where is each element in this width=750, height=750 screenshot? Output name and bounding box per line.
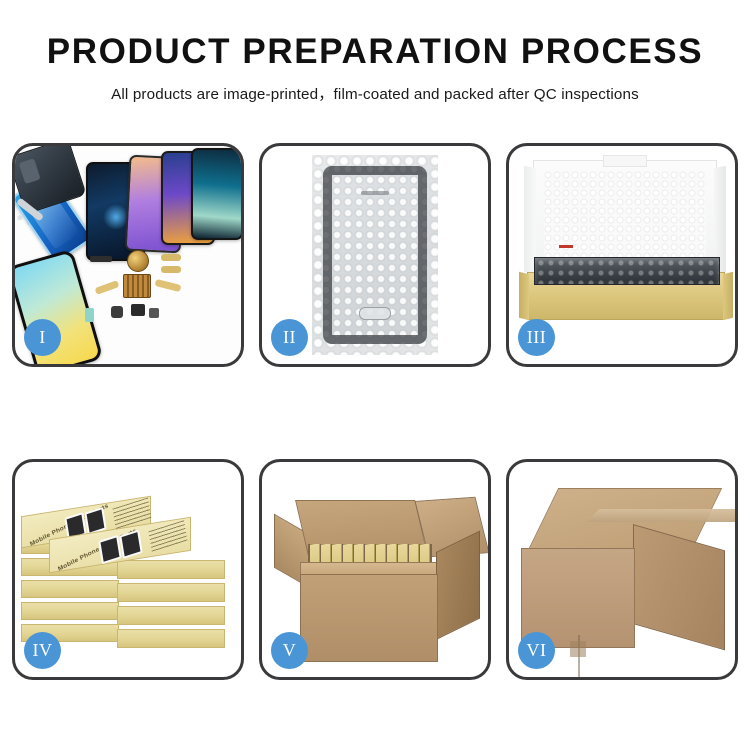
step-panel-6: VI: [506, 459, 738, 680]
wrapped-screen-in-box: [534, 257, 720, 285]
camera-module-part: [131, 304, 145, 316]
step-panel-1: I: [12, 143, 244, 367]
step-panel-2: II: [259, 143, 491, 367]
red-label-strip: [559, 245, 573, 248]
stacked-box: [117, 606, 225, 625]
flex-cable-part-b: [161, 254, 181, 261]
stacked-box: [117, 583, 225, 602]
flex-cable-part-d: [95, 280, 120, 295]
step-panel-3: III: [506, 143, 738, 367]
process-step-grid: I II: [12, 143, 738, 680]
chip-part: [123, 274, 151, 298]
phone-screen-teal: [191, 148, 241, 240]
tray-left-wall: [519, 272, 529, 320]
button-part: [149, 308, 159, 318]
tray-right-wall: [723, 272, 733, 320]
home-button-slot: [359, 307, 391, 320]
step-badge-2: II: [271, 319, 308, 356]
flex-cable-part-e: [155, 279, 182, 292]
step-badge-6: VI: [518, 632, 555, 669]
stacked-box: [21, 580, 119, 598]
page-title: PRODUCT PREPARATION PROCESS: [0, 34, 750, 71]
step-badge-4: IV: [24, 632, 61, 669]
flex-cable-part-c: [161, 266, 181, 273]
flex-cable-part-a: [90, 256, 112, 262]
bubble-wrap-sheet: [312, 155, 438, 355]
lid-tab: [603, 155, 647, 167]
carton-tab-upper: [570, 641, 586, 657]
speaker-coil-part: [127, 250, 149, 272]
carton-front-panel: [300, 574, 438, 662]
stacked-box: [117, 560, 225, 579]
battery-part: [85, 308, 94, 322]
wrapped-screen-frame: [323, 166, 427, 344]
step-badge-5: V: [271, 632, 308, 669]
step-panel-4: Mobile Phone Spare Parts Mobile Phone Sp…: [12, 459, 244, 680]
sealed-carton-side: [633, 524, 725, 650]
page-subtitle: All products are image-printed，film-coat…: [0, 82, 750, 104]
speaker-part: [111, 306, 123, 318]
earpiece-slot: [361, 191, 389, 195]
header: PRODUCT PREPARATION PROCESS All products…: [0, 0, 750, 104]
kraft-box-tray: [527, 272, 725, 320]
step-panel-5: V: [259, 459, 491, 680]
step-badge-1: I: [24, 319, 61, 356]
step-badge-3: III: [518, 319, 555, 356]
packing-tape-strip: [587, 509, 735, 522]
infographic-page: PRODUCT PREPARATION PROCESS All products…: [0, 0, 750, 750]
stacked-box: [21, 602, 119, 620]
stacked-box: [117, 629, 225, 648]
